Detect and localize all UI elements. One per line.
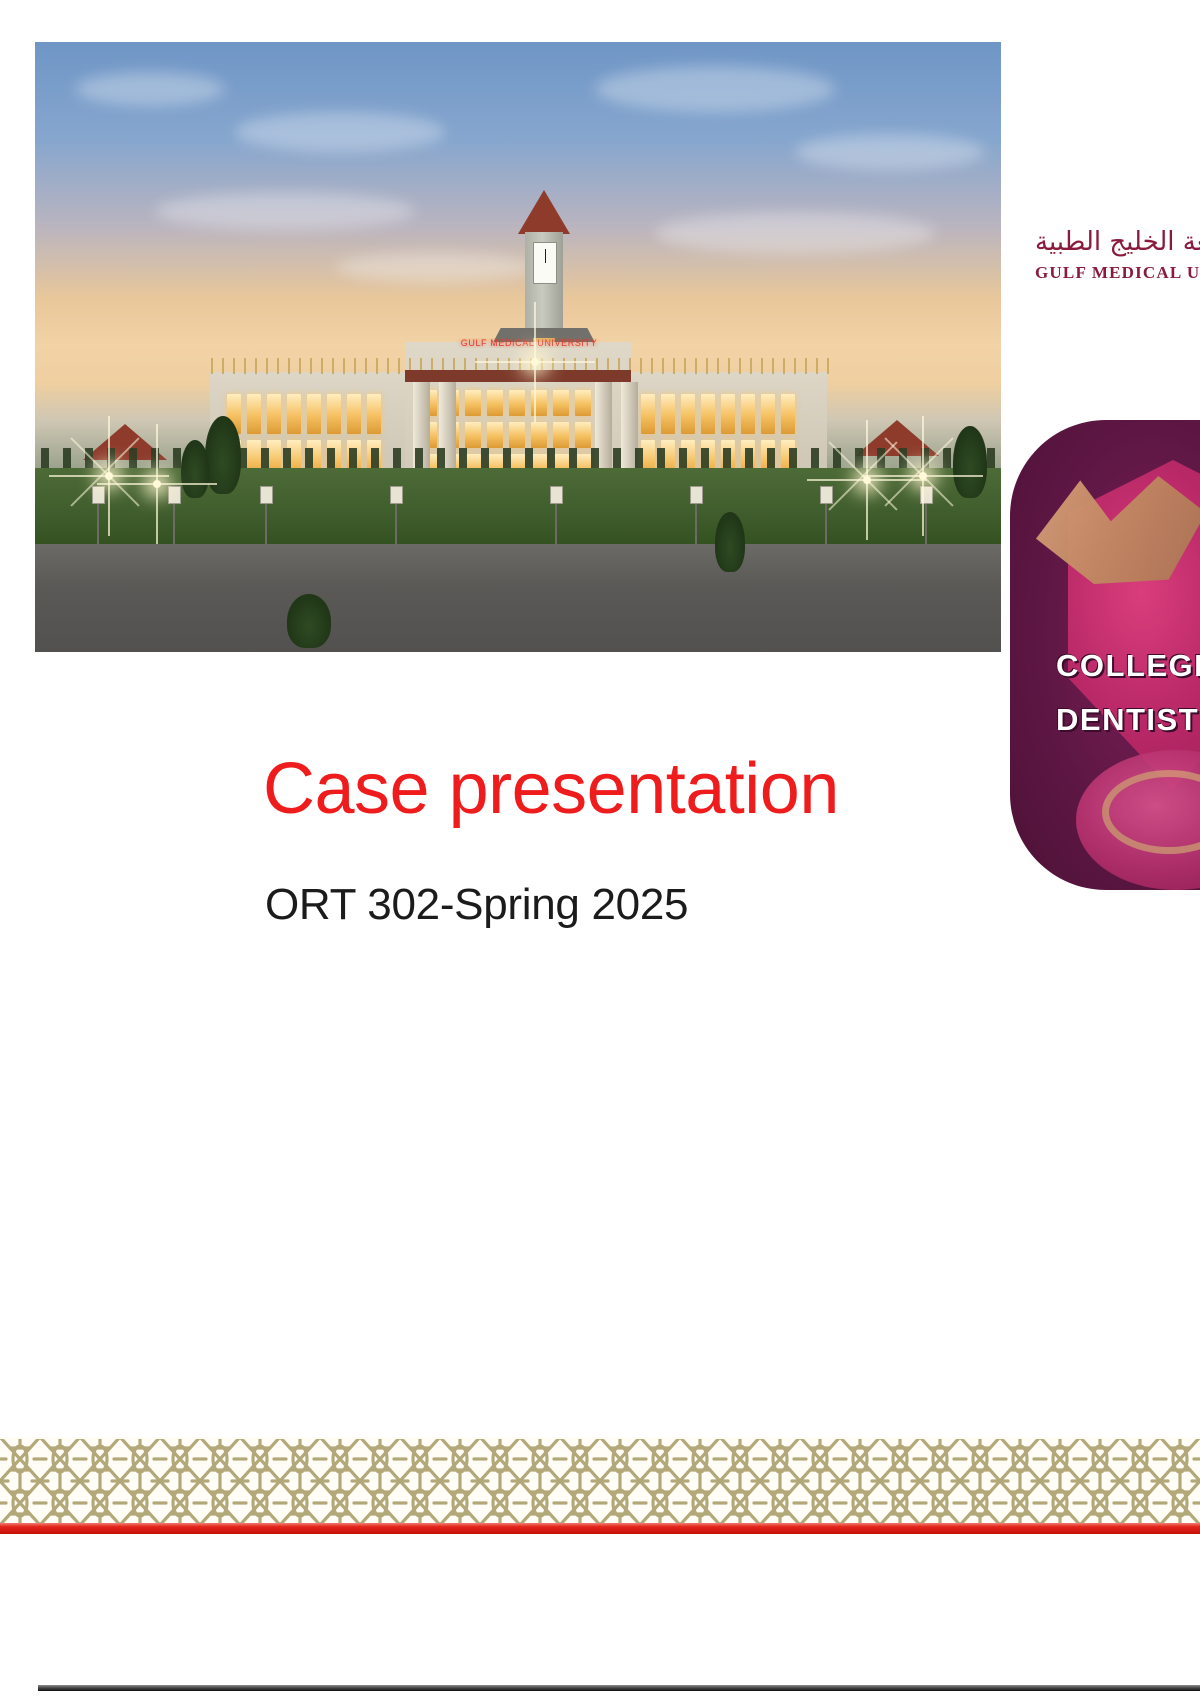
university-wordmark: جامعة الخليج الطبية GULF MEDICAL UNIVERS… — [1035, 228, 1200, 283]
red-accent-rule — [0, 1523, 1200, 1534]
tree-3 — [953, 426, 987, 498]
light-flare-3 — [863, 476, 871, 484]
lamp-post-6 — [695, 500, 697, 548]
cloud-7 — [335, 252, 535, 282]
clock-face-icon — [533, 242, 557, 284]
tree-4 — [715, 512, 745, 572]
lamp-head-1 — [92, 486, 105, 504]
next-slide-top-edge — [38, 1685, 1200, 1691]
lamp-head-5 — [550, 486, 563, 504]
page-subtitle: ORT 302-Spring 2025 — [265, 880, 688, 930]
lamp-post-5 — [555, 500, 557, 548]
lamp-head-4 — [390, 486, 403, 504]
lamp-post-7 — [825, 500, 827, 548]
light-flare-2 — [153, 480, 161, 488]
page-title: Case presentation — [263, 752, 839, 828]
cloud-1 — [75, 72, 225, 106]
lamp-post-1 — [97, 500, 99, 548]
university-wordmark-latin: GULF MEDICAL UNIVERSITY — [1035, 263, 1200, 283]
badge-text-line-2: DENTISTRY — [1056, 702, 1200, 738]
presentation-slide: GULF MEDICAL UNIVERSITY — [0, 0, 1200, 1660]
light-flare-1 — [105, 472, 113, 480]
light-flare-5 — [531, 358, 539, 366]
clock-tower-roof — [518, 190, 570, 234]
islamic-lattice-ornament — [0, 1437, 1200, 1525]
roof-parapet-band — [405, 370, 631, 382]
light-flare-4 — [919, 472, 927, 480]
lamp-head-3 — [260, 486, 273, 504]
lamp-post-2 — [173, 500, 175, 548]
lamp-post-3 — [265, 500, 267, 548]
lamp-head-2 — [168, 486, 181, 504]
lamp-post-4 — [395, 500, 397, 548]
cloud-4 — [795, 134, 985, 170]
badge-scroll-ornament — [1076, 750, 1200, 890]
cloud-3 — [595, 66, 835, 112]
college-of-dentistry-badge: COLLEGE OF DENTISTRY — [1010, 420, 1200, 890]
cloud-6 — [655, 212, 935, 254]
lamp-post-8 — [925, 500, 927, 548]
campus-photo: GULF MEDICAL UNIVERSITY — [35, 42, 1001, 652]
forecourt-road — [35, 544, 1001, 652]
cloud-2 — [235, 112, 445, 152]
badge-text-line-1: COLLEGE OF — [1056, 648, 1200, 684]
tree-5 — [287, 594, 331, 648]
university-wordmark-arabic: جامعة الخليج الطبية — [1035, 228, 1200, 257]
lamp-head-6 — [690, 486, 703, 504]
tree-2 — [181, 440, 209, 498]
lamp-head-7 — [820, 486, 833, 504]
building-sign-text: GULF MEDICAL UNIVERSITY — [413, 338, 645, 348]
cloud-5 — [155, 192, 415, 230]
